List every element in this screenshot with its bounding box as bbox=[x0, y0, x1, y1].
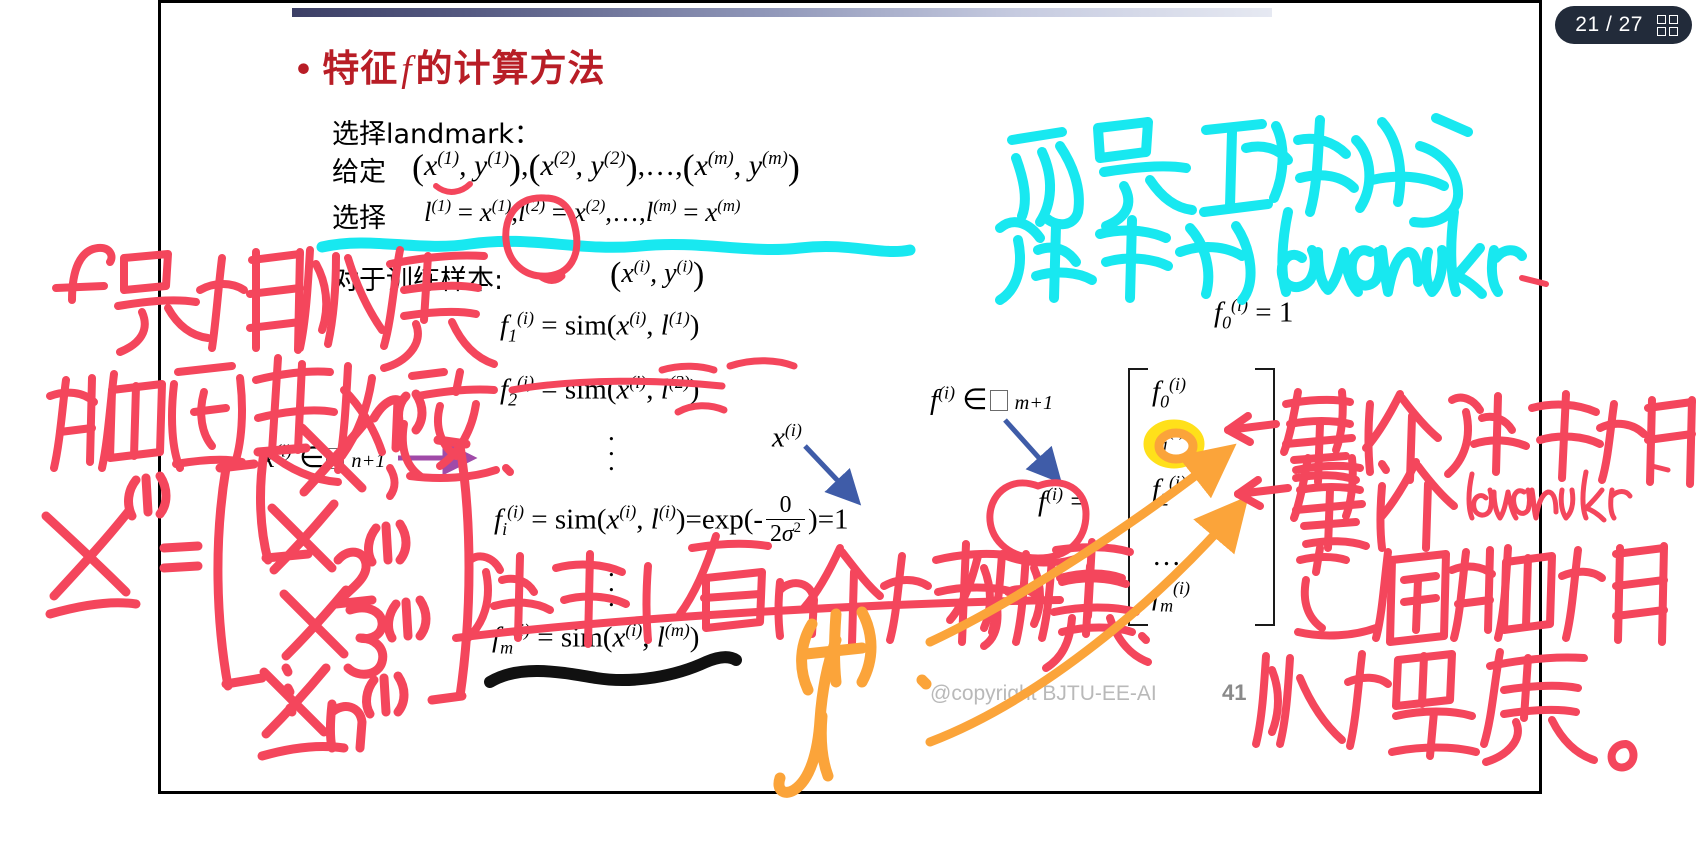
title-variable-f: f bbox=[398, 49, 415, 90]
landmark-assignment-expression: l(1) = x(1),l(2) = x(2),…,l(m) = x(m) bbox=[424, 196, 740, 228]
matrix-bracket-left bbox=[1128, 368, 1148, 626]
equation-f1: f1(i) = sim(x(i), l(1)) bbox=[500, 308, 699, 346]
training-sample-pair: (x(i), y(i)) bbox=[610, 256, 704, 294]
vertical-dots-lower: ... bbox=[608, 560, 615, 605]
line-given-label: 给定 bbox=[332, 150, 386, 189]
page-title: • 特征f的计算方法 bbox=[297, 38, 606, 92]
x-i-callout-label: x(i) bbox=[772, 420, 802, 455]
vector-row-ellipsis: … bbox=[1152, 540, 1181, 573]
slide-accent-bar bbox=[292, 8, 1272, 17]
vector-row-0: f0(i) bbox=[1152, 374, 1186, 412]
equation-fm: fm(i) = sim(x(i), l(m)) bbox=[492, 620, 699, 658]
exp-fraction-denominator: 2σ2 bbox=[766, 520, 805, 549]
given-pairs-expression: (x(1), y(1)),(x(2), y(2)),…,(x(m), y(m)) bbox=[412, 146, 800, 188]
title-prefix: 特征 bbox=[322, 48, 398, 89]
matrix-bracket-right bbox=[1255, 368, 1275, 626]
line-choose-label: 选择 bbox=[332, 196, 386, 235]
blackboard-r-box-icon bbox=[326, 448, 344, 469]
x-membership-expression: x(i) ∈ n+1 bbox=[262, 440, 385, 475]
exp-fraction-numerator: 0 bbox=[766, 492, 805, 520]
page-indicator-label: 21 / 27 bbox=[1575, 13, 1643, 37]
page-indicator-badge[interactable]: 21 / 27 bbox=[1555, 6, 1692, 44]
f-membership-expression: f(i) ∈ m+1 bbox=[930, 382, 1053, 417]
equation-f0-equals-one: f0(i) = 1 bbox=[1214, 295, 1293, 333]
equation-f2: f2(i) = sim(x(i), l(2)) bbox=[500, 372, 699, 410]
title-suffix: 的计算方法 bbox=[416, 48, 606, 89]
title-bullet: • bbox=[297, 48, 311, 89]
vertical-dots-upper: ... bbox=[608, 424, 615, 469]
line-training-sample-label: 对于训练样本: bbox=[332, 258, 503, 297]
vector-row-1: f1(i) bbox=[1152, 420, 1186, 458]
grid-icon[interactable] bbox=[1657, 15, 1678, 36]
slide-viewer: • 特征f的计算方法 选择landmark： 给定 (x(1), y(1)),(… bbox=[0, 0, 1702, 868]
vector-row-m: fm(i) bbox=[1152, 578, 1190, 616]
vector-row-2: f2(i) bbox=[1152, 472, 1186, 510]
equation-fi: fi(i) = sim(x(i), l(i))=exp(-02σ2)=1 bbox=[494, 492, 849, 549]
blackboard-r-box-icon-2 bbox=[990, 390, 1008, 411]
copyright-text: @copyright BJTU-EE-AI bbox=[930, 682, 1157, 706]
slide-page-number: 41 bbox=[1222, 680, 1246, 706]
f-vector-lhs: f(i) = bbox=[1038, 484, 1087, 519]
